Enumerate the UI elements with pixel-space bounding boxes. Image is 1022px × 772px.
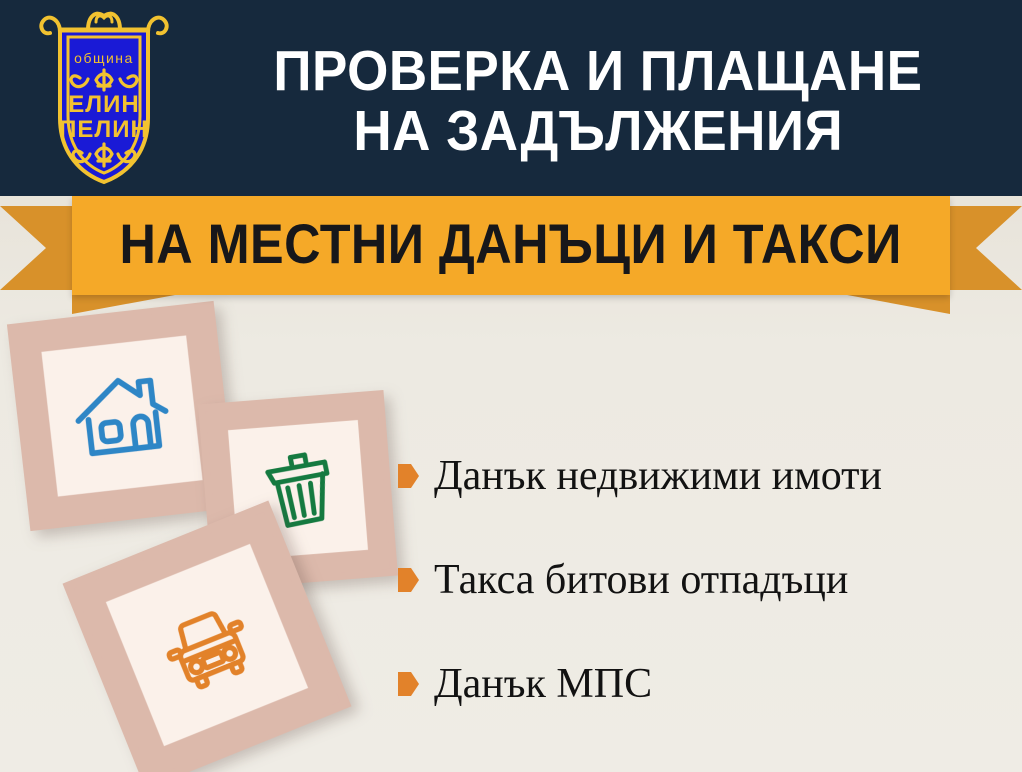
list-item[interactable]: Данък недвижими имоти xyxy=(398,424,1012,528)
title-line-1: ПРОВЕРКА И ПЛАЩАНЕ xyxy=(273,41,922,101)
bullet-arrow-icon xyxy=(398,463,420,489)
service-list: Данък недвижими имоти Такса битови отпад… xyxy=(398,424,1012,736)
bullet-arrow-icon xyxy=(398,671,420,697)
list-item-label: Данък недвижими имоти xyxy=(434,454,882,498)
ribbon-label: НА МЕСТНИ ДАНЪЦИ И ТАКСИ xyxy=(120,216,902,276)
poster-title: ПРОВЕРКА И ПЛАЩАНЕ НА ЗАДЪЛЖЕНИЯ xyxy=(180,16,1016,186)
svg-text:община: община xyxy=(74,50,134,66)
header-band: община ЕЛИН ПЕЛИН ПРОВЕРКА И ПЛАЩАНЕ НА … xyxy=(0,0,1022,196)
svg-text:ПЕЛИН: ПЕЛИН xyxy=(59,116,149,143)
ribbon-band: НА МЕСТНИ ДАНЪЦИ И ТАКСИ xyxy=(72,196,950,295)
poster-canvas: община ЕЛИН ПЕЛИН ПРОВЕРКА И ПЛАЩАНЕ НА … xyxy=(0,0,1022,772)
municipality-logo: община ЕЛИН ПЕЛИН xyxy=(34,6,174,190)
svg-text:ЕЛИН: ЕЛИН xyxy=(68,91,139,118)
list-item[interactable]: Такса битови отпадъци xyxy=(398,528,1012,632)
list-item[interactable]: Данък МПС xyxy=(398,632,1012,736)
list-item-label: Такса битови отпадъци xyxy=(434,558,848,602)
title-line-2: НА ЗАДЪЛЖЕНИЯ xyxy=(353,101,843,161)
list-item-label: Данък МПС xyxy=(434,662,652,706)
bullet-arrow-icon xyxy=(398,567,420,593)
subtitle-ribbon: НА МЕСТНИ ДАНЪЦИ И ТАКСИ xyxy=(0,196,1022,308)
